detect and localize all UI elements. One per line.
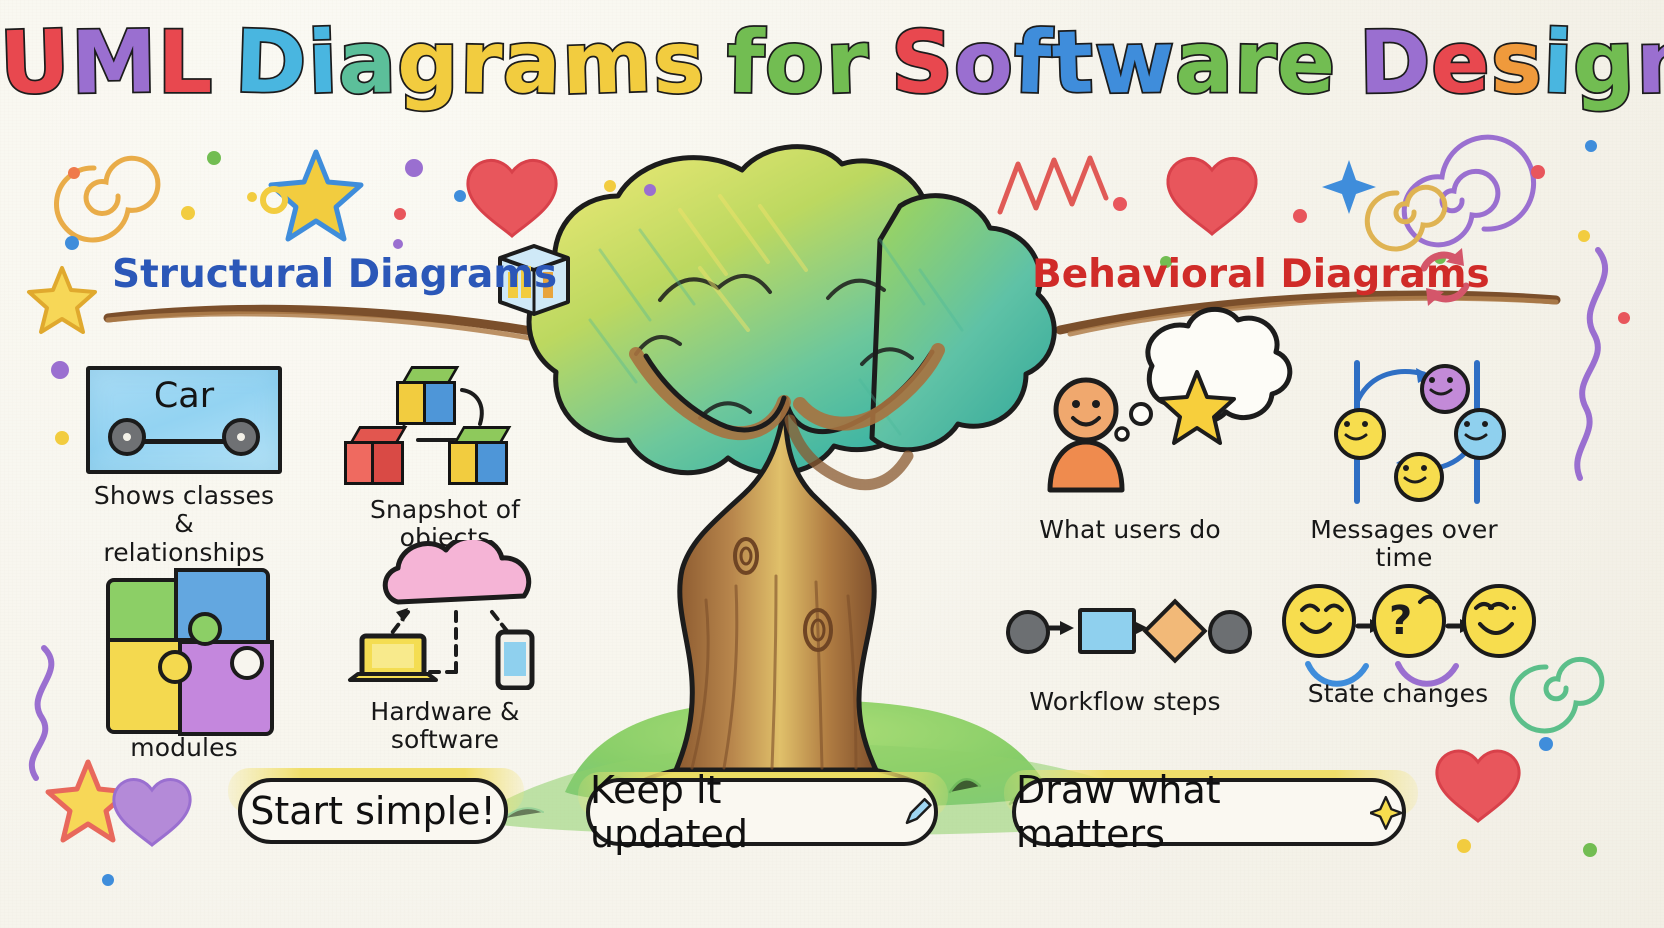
doodle-heart-red-right [1168,158,1256,234]
cloud-devices [320,540,570,690]
item-caption: State changes [1268,680,1528,708]
doodle-spiral-purple [1404,137,1533,245]
title-letter: a [502,19,564,107]
title-letter: a [337,20,397,107]
item-component-diagram[interactable]: Software modules [80,568,288,763]
title-letter: o [764,19,827,107]
title-letter: r [459,20,504,107]
title-letter: s [652,20,706,107]
title-letter: t [1051,19,1096,106]
tip-label: Start simple! [250,789,496,833]
cube-top [396,366,450,420]
wheel-right [222,418,260,456]
class-box-label: Car [90,376,278,416]
tip-draw-what-matters[interactable]: Draw what matters [1012,778,1406,846]
title-letter: U [0,19,72,107]
section-heading-structural-label: Structural Diagrams [112,252,557,297]
laptop-icon [350,636,436,680]
doodle-squiggle-purple-left [32,648,52,778]
title-letter: e [1276,19,1338,107]
doodle-heart-red-bottom-right [1437,751,1519,821]
doodle-squiggle-purple-right [1577,250,1605,478]
section-heading-behavioral-label: Behavioral Diagrams [1032,252,1490,297]
doodle-star-blue [271,152,361,239]
pencil-icon [901,795,934,829]
item-caption: Messages over time [1282,516,1526,573]
puzzle-notch [230,646,264,680]
item-deployment-diagram[interactable]: Hardware & software [320,540,570,755]
section-heading-structural: Structural Diagrams [112,252,557,297]
state-faces-overlay: ? [1268,580,1528,672]
doodle-star-yellow-left [29,268,95,332]
page-title: UMLDiagramsforSoftwareDesign [0,20,1664,106]
axle [134,439,234,444]
title-letter: o [953,20,1014,107]
title-letter: s [1490,20,1544,107]
cloud-devices-svg [320,540,570,690]
sparkle-pen-icon [1370,794,1402,830]
phone-icon [498,632,532,688]
item-object-diagram[interactable]: Snapshot of objects [330,360,560,553]
title-letter: D [1358,19,1432,106]
smiley-states: ? [1268,580,1528,672]
item-class-diagram[interactable]: Car Shows classes & relationships [84,366,284,567]
title-letter: g [397,20,460,106]
title-letter: w [1094,19,1176,106]
doodle-spiral-gold-right [1367,187,1445,249]
item-caption: Shows classes & relationships [84,482,284,567]
branch-line [108,295,1556,340]
title-letter: L [157,20,213,106]
title-letter: r [1233,20,1278,107]
item-caption: Hardware & software [320,698,570,755]
title-letter: D [234,19,309,107]
workflow-start-node [1006,610,1050,654]
tip-keep-updated[interactable]: Keep it updated [586,778,938,846]
section-heading-behavioral: Behavioral Diagrams [1032,252,1490,297]
workflow-end-node [1208,610,1252,654]
poster-canvas: UMLDiagramsforSoftwareDesign [0,0,1664,928]
title-letter: f [726,20,766,107]
car-class-box: Car [86,366,282,474]
title-letter: i [306,20,339,107]
doodle-sparkle-blue [1322,160,1376,214]
tip-label: Keep it updated [590,768,887,856]
item-activity-diagram[interactable]: Workflow steps [1000,596,1250,716]
tree-canopy [529,147,1054,474]
person-thought-star [1030,360,1230,508]
doodle-heart-red-top [468,160,556,236]
title-letter: i [1541,20,1574,107]
puzzle-pieces [80,568,288,698]
workflow-decision-node [1142,598,1207,663]
workflow-action-node [1078,608,1136,654]
title-letter: f [1013,19,1054,106]
doodle-star-orange-bottom [48,762,128,840]
doodle-heart-purple-bottom [114,779,190,845]
puzzle-knob-a [188,612,222,646]
wheel-left [108,418,146,456]
tree-trunk [632,350,938,786]
linked-cubes [330,360,560,488]
tip-label: Draw what matters [1016,768,1356,856]
item-sequence-diagram[interactable]: Messages over time [1282,356,1526,573]
puzzle-knob-b [158,650,192,684]
title-letter: m [561,19,654,108]
cube-left [344,426,398,480]
cube-right [448,426,502,480]
title-letter: a [1175,20,1234,106]
item-caption: What users do [1030,516,1230,544]
tip-start-simple[interactable]: Start simple! [238,778,508,844]
title-letter: g [1572,19,1637,107]
smiley-faces-overlay [1282,356,1526,508]
title-letter: e [1431,20,1490,106]
title-letter: S [891,20,954,106]
title-letter: n [1635,20,1664,107]
doodle-spiral-orange [57,158,158,240]
title-letter: r [824,19,870,106]
workflow-chain [1000,596,1250,670]
item-state-diagram[interactable]: ? State changes [1268,580,1528,708]
title-letter: M [70,19,158,106]
item-use-case-diagram[interactable]: What users do [1030,360,1230,544]
item-caption: Workflow steps [1000,688,1250,716]
svg-text:?: ? [1389,598,1412,644]
lifelines-messages [1282,356,1526,508]
doodle-zigzag-red [1000,158,1106,212]
